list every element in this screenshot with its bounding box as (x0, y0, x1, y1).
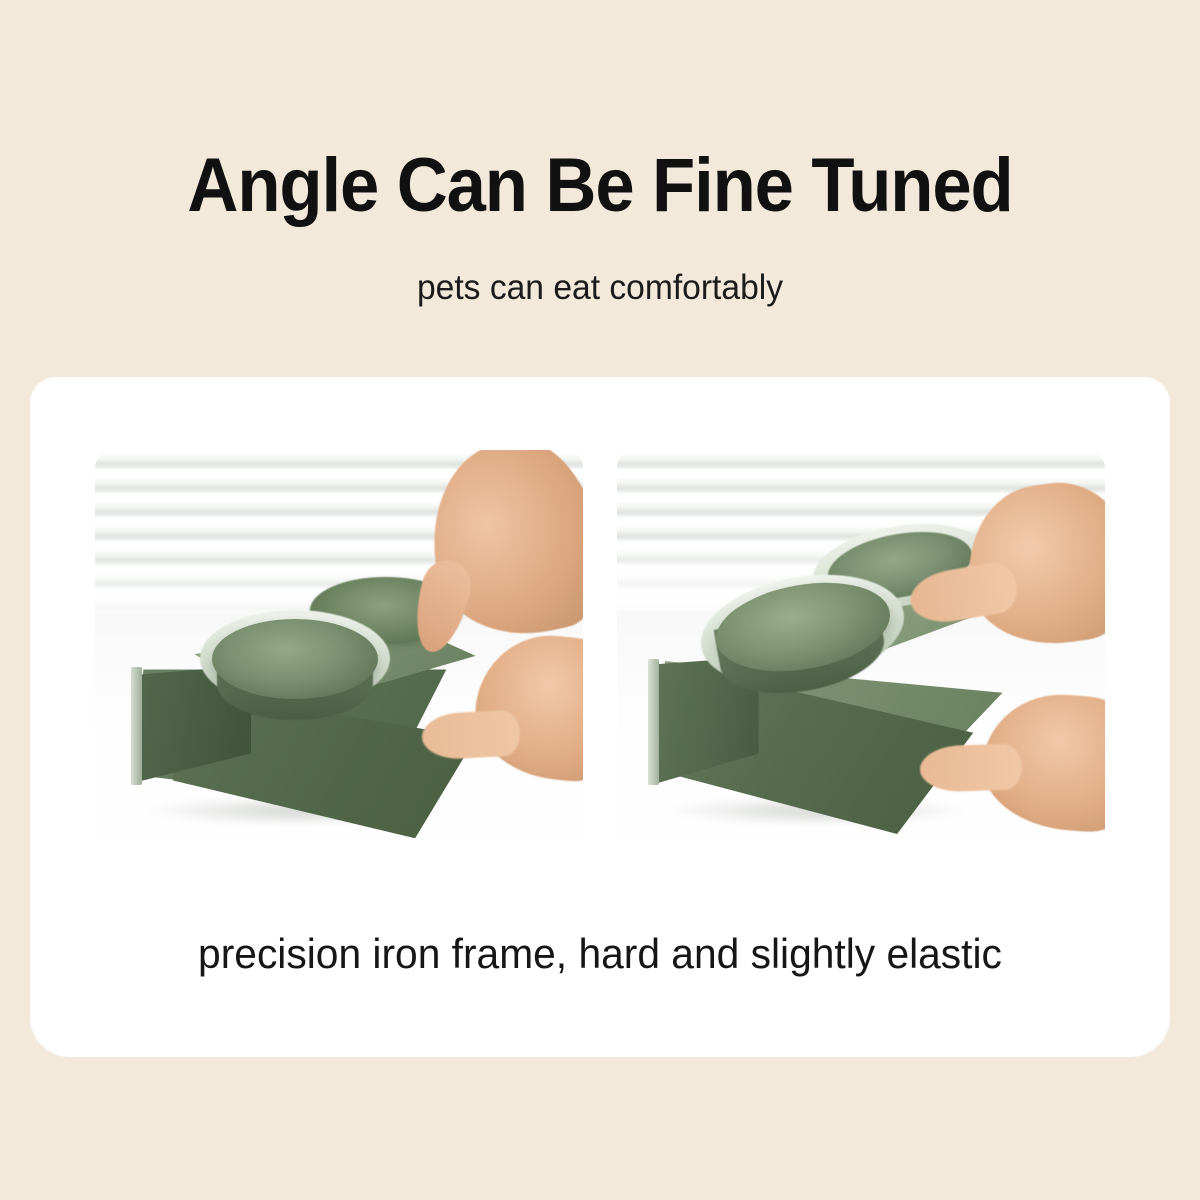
feature-card: precision iron frame, hard and slightly … (30, 377, 1170, 1057)
near-bowl (212, 619, 378, 699)
product-photo-high-angle (617, 450, 1105, 872)
product-photo-low-angle (95, 450, 583, 872)
page-title: Angle Can Be Fine Tuned (42, 143, 1158, 229)
photo-gallery (95, 450, 1105, 872)
stand-left-edge-highlight (131, 667, 142, 785)
lower-hand-fingers (919, 744, 1023, 794)
page-subtitle: pets can eat comfortably (24, 266, 1176, 310)
feature-caption: precision iron frame, hard and slightly … (47, 927, 1153, 981)
marketing-page: Angle Can Be Fine Tuned pets can eat com… (0, 0, 1200, 1200)
stand-left-edge-highlight (648, 659, 659, 786)
